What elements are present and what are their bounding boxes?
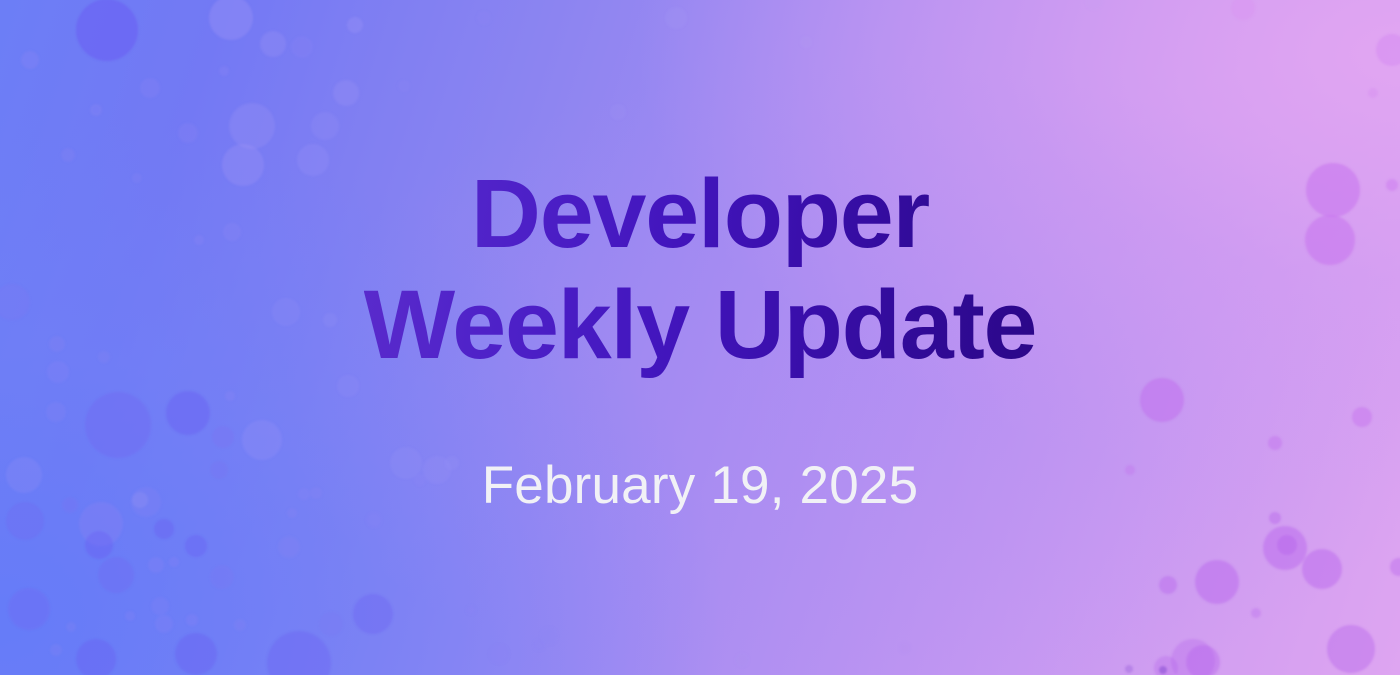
slide-content: Developer Weekly Update February 19, 202… xyxy=(0,0,1400,675)
slide-date-subtitle: February 19, 2025 xyxy=(482,381,919,516)
presentation-slide: Developer Weekly Update February 19, 202… xyxy=(0,0,1400,675)
page-title: Developer Weekly Update xyxy=(364,159,1037,380)
